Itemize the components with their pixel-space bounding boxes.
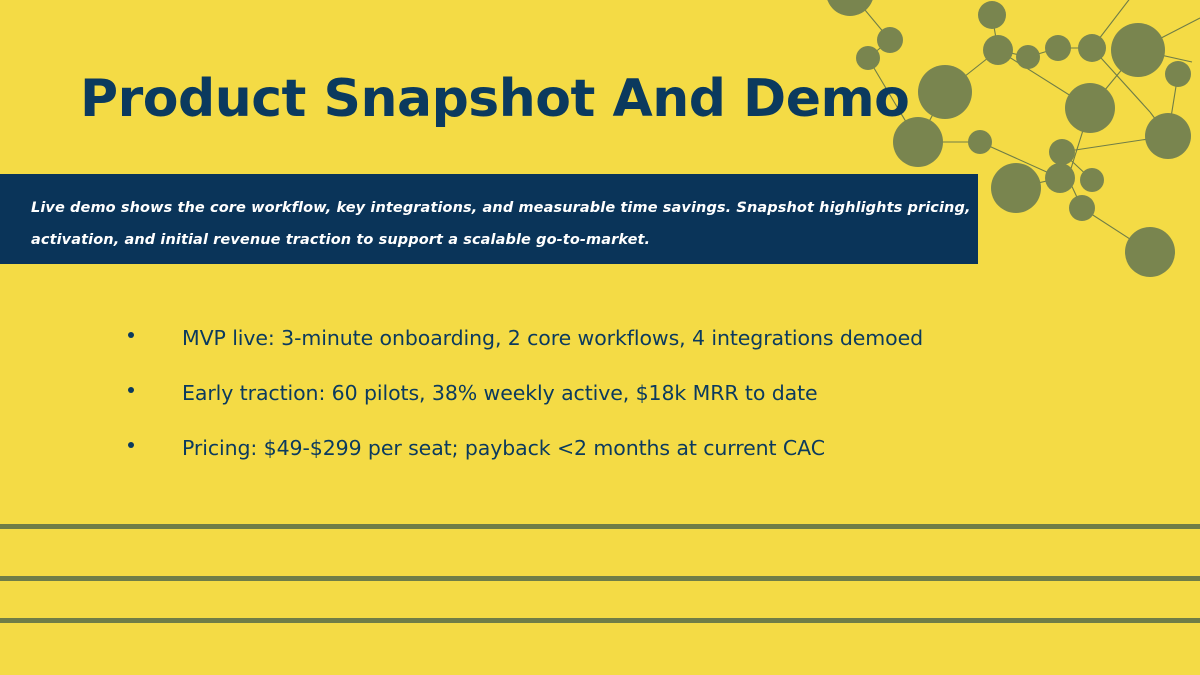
bullet-text: MVP live: 3-minute onboarding, 2 core wo… (182, 318, 928, 359)
divider-rule-1 (0, 524, 1200, 529)
page-title: Product Snapshot And Demo (80, 72, 909, 127)
list-item: MVP live: 3-minute onboarding, 2 core wo… (128, 318, 928, 359)
bullet-dot-icon (128, 442, 134, 448)
divider-rule-2 (0, 576, 1200, 581)
bullet-dot-icon (128, 387, 134, 393)
bullet-text: Pricing: $49-$299 per seat; payback <2 m… (182, 428, 928, 469)
divider-rule-3 (0, 618, 1200, 623)
bullet-list: MVP live: 3-minute onboarding, 2 core wo… (128, 318, 928, 483)
bullet-text: Early traction: 60 pilots, 38% weekly ac… (182, 373, 928, 414)
subtitle-band: Live demo shows the core workflow, key i… (0, 174, 978, 264)
slide-canvas: Product Snapshot And Demo Live demo show… (0, 0, 1200, 675)
bullet-dot-icon (128, 332, 134, 338)
subtitle-line-1: Live demo shows the core workflow, key i… (31, 192, 938, 224)
subtitle-line-2: activation, and initial revenue traction… (31, 224, 938, 256)
list-item: Early traction: 60 pilots, 38% weekly ac… (128, 373, 928, 414)
list-item: Pricing: $49-$299 per seat; payback <2 m… (128, 428, 928, 469)
